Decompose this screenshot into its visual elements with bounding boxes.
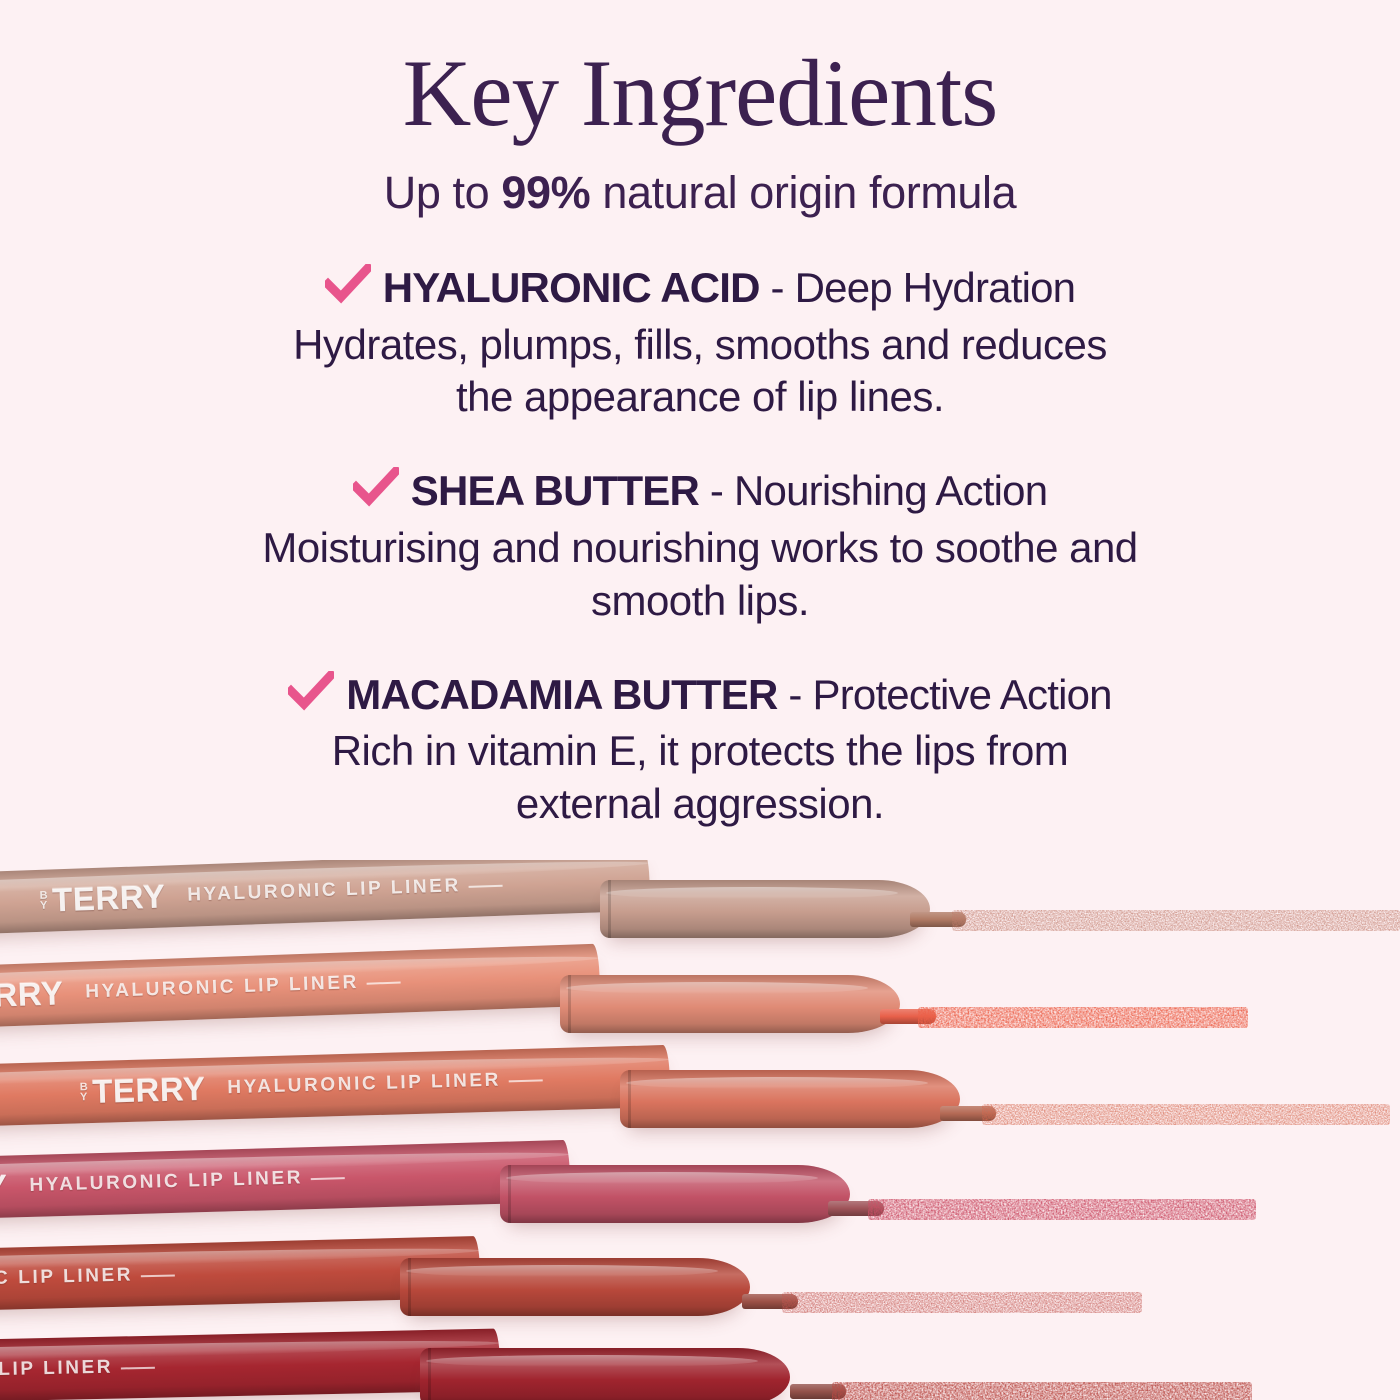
color-swatch-stroke [782, 1290, 1142, 1316]
subtitle-suffix: natural origin formula [590, 167, 1016, 218]
twist-seam [408, 1258, 411, 1316]
subtitle: Up to 99% natural origin formula [40, 167, 1360, 219]
color-swatch-stroke [868, 1197, 1256, 1223]
ingredient-benefit: Protective Action [812, 671, 1111, 718]
twist-seam [508, 1165, 511, 1223]
product-name-print: HYALURONIC LIP LINER [187, 874, 503, 907]
ingredient-benefit: Deep Hydration [795, 264, 1076, 311]
brand-by-text: BY [39, 890, 48, 911]
barrel-branding: BYTERRYHYALURONIC LIP LINER [0, 1348, 156, 1396]
pencil-nose-cone [600, 880, 930, 938]
ingredient-heading: SHEA BUTTER - Nourishing Action [40, 466, 1360, 516]
pencil-barrel: BYTERRYHYALURONIC LIP LINER [0, 1140, 571, 1227]
brand-logo: BYTERRY [0, 1168, 8, 1209]
subtitle-highlight: 99% [501, 167, 590, 218]
product-name-print: HYALURONIC LIP LINER [227, 1068, 543, 1099]
ingredient-item: SHEA BUTTER - Nourishing Action Moisturi… [40, 466, 1360, 627]
twist-seam [628, 1070, 631, 1128]
ingredient-item: HYALURONIC ACID - Deep Hydration Hydrate… [40, 263, 1360, 424]
twist-seam [608, 880, 611, 938]
barrel-branding: BYTERRYHYALURONIC LIP LINER [79, 1060, 543, 1111]
barrel-branding: BYTERRYHYALURONIC LIP LINER [0, 963, 402, 1017]
brand-logo: BYTERRY [39, 878, 166, 920]
product-infographic: Key Ingredients Up to 99% natural origin… [0, 0, 1400, 1400]
print-underscore [469, 885, 503, 888]
brand-by-text: BY [80, 1082, 89, 1103]
pencil-nose-cone [560, 975, 900, 1033]
lip-liner-pencil[interactable]: BYTERRYHYALURONIC LIP LINER [0, 1155, 1400, 1245]
page-title: Key Ingredients [40, 0, 1360, 141]
print-underscore [121, 1367, 155, 1370]
product-photo: BYTERRYHYALURONIC LIP LINERBYTERRYHYALUR… [0, 860, 1400, 1400]
product-name-print: HYALURONIC LIP LINER [29, 1166, 345, 1197]
brand-terry-text: TERRY [0, 974, 64, 1016]
print-underscore [141, 1274, 175, 1277]
product-name-print: HYALURONIC LIP LINER [0, 1263, 175, 1293]
color-swatch-stroke [982, 1102, 1390, 1128]
print-underscore [311, 1177, 345, 1180]
check-icon [325, 264, 371, 304]
brand-logo: BYTERRY [0, 974, 64, 1016]
lip-liner-pencil[interactable]: BYTERRYHYALURONIC LIP LINER [0, 965, 1400, 1055]
ingredient-heading: MACADAMIA BUTTER - Protective Action [40, 670, 1360, 720]
brand-terry-text: TERRY [52, 878, 166, 920]
print-underscore [367, 982, 401, 985]
pencil-nose-cone [420, 1348, 790, 1400]
barrel-branding: BYTERRYHYALURONIC LIP LINER [39, 866, 503, 920]
check-icon [288, 671, 334, 711]
lip-liner-pencil[interactable]: BYTERRYHYALURONIC LIP LINER [0, 870, 1400, 960]
ingredient-name: HYALURONIC ACID [383, 264, 760, 311]
ingredient-benefit: Nourishing Action [734, 467, 1047, 514]
pencil-barrel: BYTERRYHYALURONIC LIP LINER [0, 1045, 671, 1132]
key-ingredients-section: Key Ingredients Up to 99% natural origin… [0, 0, 1400, 880]
twist-seam [568, 975, 571, 1033]
pencil-barrel: BYTERRYHYALURONIC LIP LINER [0, 860, 651, 942]
barrel-branding: BYTERRYHYALURONIC LIP LINER [0, 1158, 346, 1209]
ingredient-name: SHEA BUTTER [411, 467, 699, 514]
ingredient-separator: - [778, 671, 813, 718]
ingredient-description: Moisturising and nourishing works to soo… [40, 522, 1360, 628]
check-icon [353, 467, 399, 507]
ingredient-name: MACADAMIA BUTTER [346, 671, 777, 718]
pencil-nose-cone [500, 1165, 850, 1223]
brand-logo: BYTERRY [79, 1070, 206, 1111]
ingredient-separator: - [699, 467, 734, 514]
pencil-nose-cone [400, 1258, 750, 1316]
ingredient-separator: - [760, 264, 795, 311]
print-underscore [509, 1079, 543, 1082]
pencil-nose-cone [620, 1070, 960, 1128]
color-swatch-stroke [832, 1380, 1252, 1400]
color-swatch-stroke [918, 1005, 1248, 1031]
twist-seam [428, 1348, 431, 1400]
brand-terry-text: TERRY [92, 1070, 206, 1111]
lip-liner-pencil[interactable]: BYTERRYHYALURONIC LIP LINER [0, 1248, 1400, 1338]
brand-terry-text: TERRY [0, 1168, 8, 1209]
barrel-branding: BYTERRYHYALURONIC LIP LINER [0, 1255, 176, 1304]
subtitle-prefix: Up to [384, 167, 502, 218]
ingredient-description: Hydrates, plumps, fills, smooths and red… [40, 319, 1360, 425]
lip-liner-pencil[interactable]: BYTERRYHYALURONIC LIP LINER [0, 1338, 1400, 1400]
product-name-print: HYALURONIC LIP LINER [0, 1356, 155, 1385]
color-swatch-stroke [952, 908, 1400, 934]
product-name-print: HYALURONIC LIP LINER [85, 971, 401, 1004]
ingredient-heading: HYALURONIC ACID - Deep Hydration [40, 263, 1360, 313]
ingredient-description: Rich in vitamin E, it protects the lips … [40, 725, 1360, 831]
ingredient-item: MACADAMIA BUTTER - Protective Action Ric… [40, 670, 1360, 831]
lip-liner-pencil[interactable]: BYTERRYHYALURONIC LIP LINER [0, 1060, 1400, 1150]
